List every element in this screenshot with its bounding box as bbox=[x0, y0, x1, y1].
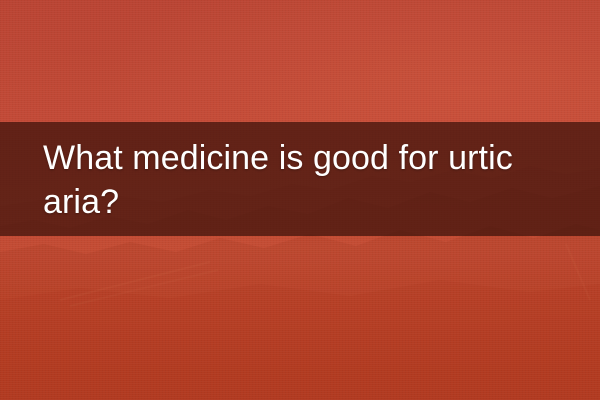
question-text: What medicine is good for urtic aria? bbox=[43, 136, 566, 224]
question-card: What medicine is good for urtic aria? bbox=[0, 0, 600, 400]
caption-band: What medicine is good for urtic aria? bbox=[0, 122, 600, 236]
